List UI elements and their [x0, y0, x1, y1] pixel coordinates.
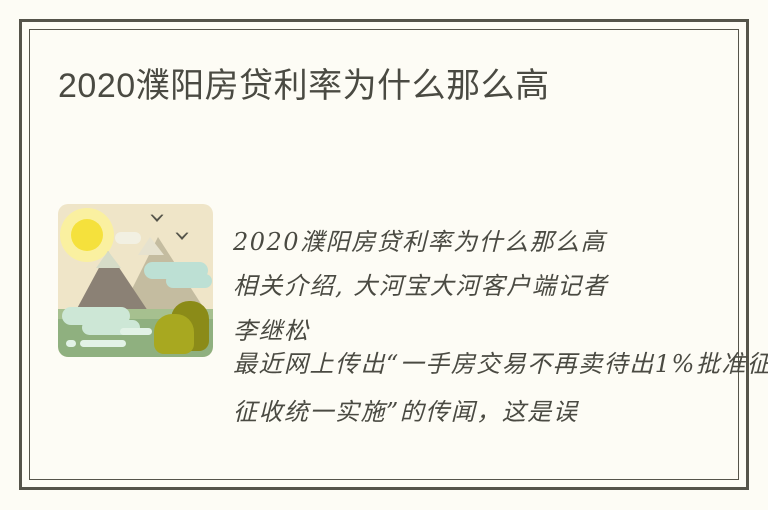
sun-icon	[71, 219, 103, 251]
page-title: 2020濮阳房贷利率为什么那么高	[58, 62, 550, 110]
mountain-landscape-illustration	[58, 204, 213, 357]
cloud-top-icon	[115, 232, 141, 244]
body-line-3: 李继松	[233, 311, 310, 346]
mist-streak-icon	[120, 328, 152, 335]
mist-streak-icon	[80, 340, 126, 347]
snow-cap-front-shape	[96, 251, 121, 268]
body-line-2: 相关介绍, 大河宝大河客户端记者	[233, 266, 608, 301]
bird-icon	[150, 214, 164, 223]
body-line-1: 2020濮阳房贷利率为什么那么高	[233, 222, 606, 257]
tree-light-icon	[154, 314, 194, 354]
bird-icon	[175, 232, 189, 241]
cloud-right-lower-icon	[166, 274, 212, 288]
mist-streak-icon	[66, 340, 76, 347]
body-line-4: 最近网上传出“一手房交易不再卖待出1%批准征收、20%税率	[233, 344, 768, 379]
body-line-5: 征收统一实施”的传闻，这是误	[233, 392, 578, 427]
